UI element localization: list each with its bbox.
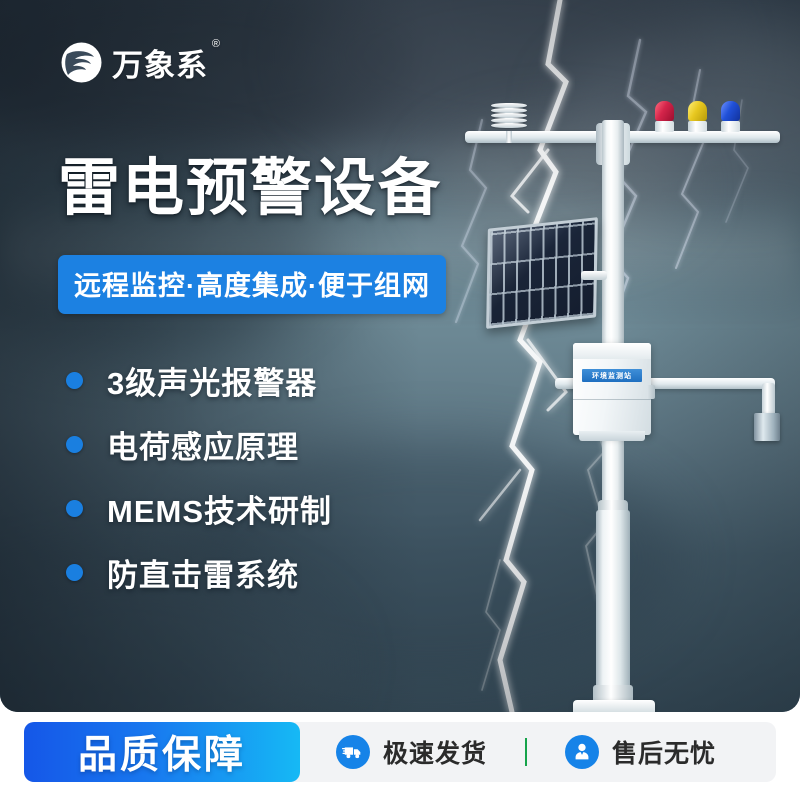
swoosh-circle-logo-icon xyxy=(60,41,103,84)
blue-alarm-light xyxy=(721,101,740,131)
feature-label: 3级声光报警器 xyxy=(107,358,317,403)
feature-label: 电荷感应原理 xyxy=(107,422,299,467)
trust-item-fast-shipping[interactable]: 极速发货 xyxy=(336,734,487,770)
feature-badge: 远程监控·高度集成·便于组网 xyxy=(58,255,446,314)
blue-dot-icon xyxy=(66,564,83,581)
yellow-alarm-light xyxy=(688,101,707,131)
product-image-weather-station: 环境监测站 xyxy=(455,95,800,695)
quality-guarantee-badge[interactable]: 品质保障 xyxy=(24,722,300,782)
trust-bar: 品质保障 极速发货 售后无忧 xyxy=(24,722,776,782)
solar-panel-bracket xyxy=(581,271,607,280)
trust-item-after-sales[interactable]: 售后无忧 xyxy=(565,734,716,770)
list-item: 防直击雷系统 xyxy=(66,540,332,604)
control-box-seam xyxy=(573,399,651,400)
delivery-truck-icon xyxy=(336,735,370,769)
sensor-cylinder xyxy=(754,413,780,441)
list-item: 电荷感应原理 xyxy=(66,412,332,476)
control-box: 环境监测站 xyxy=(573,343,651,435)
brand-name-text: 万象系 xyxy=(112,48,208,83)
registered-mark: ® xyxy=(212,38,221,50)
feature-label: MEMS技术研制 xyxy=(107,486,332,531)
brand-name: 万象系 ® xyxy=(112,40,208,85)
page-title: 雷电预警设备 xyxy=(58,158,442,220)
blue-dot-icon xyxy=(66,500,83,517)
trust-item-label: 极速发货 xyxy=(383,734,487,770)
control-box-label: 环境监测站 xyxy=(582,369,642,382)
base-plate xyxy=(573,700,655,712)
vertical-divider xyxy=(525,738,527,766)
list-item: MEMS技术研制 xyxy=(66,476,332,540)
control-box-foot xyxy=(579,431,645,441)
pole-lower-section xyxy=(596,510,630,710)
control-box-lid xyxy=(573,343,651,359)
blue-dot-icon xyxy=(66,436,83,453)
customer-service-person-icon xyxy=(565,735,599,769)
control-box-clip xyxy=(647,385,655,399)
radiation-shield-sensor-icon xyxy=(491,103,527,133)
feature-list: 3级声光报警器 电荷感应原理 MEMS技术研制 防直击雷系统 xyxy=(66,348,332,604)
blue-dot-icon xyxy=(66,372,83,389)
trust-item-label: 售后无忧 xyxy=(612,734,716,770)
red-alarm-light xyxy=(655,101,674,131)
brand-logo[interactable]: 万象系 ® xyxy=(60,40,208,85)
list-item: 3级声光报警器 xyxy=(66,348,332,412)
feature-label: 防直击雷系统 xyxy=(107,550,299,595)
hero-banner: 环境监测站 万象系 ® 雷电预警设备 远程监控·高度集成·便于组网 3级声光报 xyxy=(0,0,800,712)
